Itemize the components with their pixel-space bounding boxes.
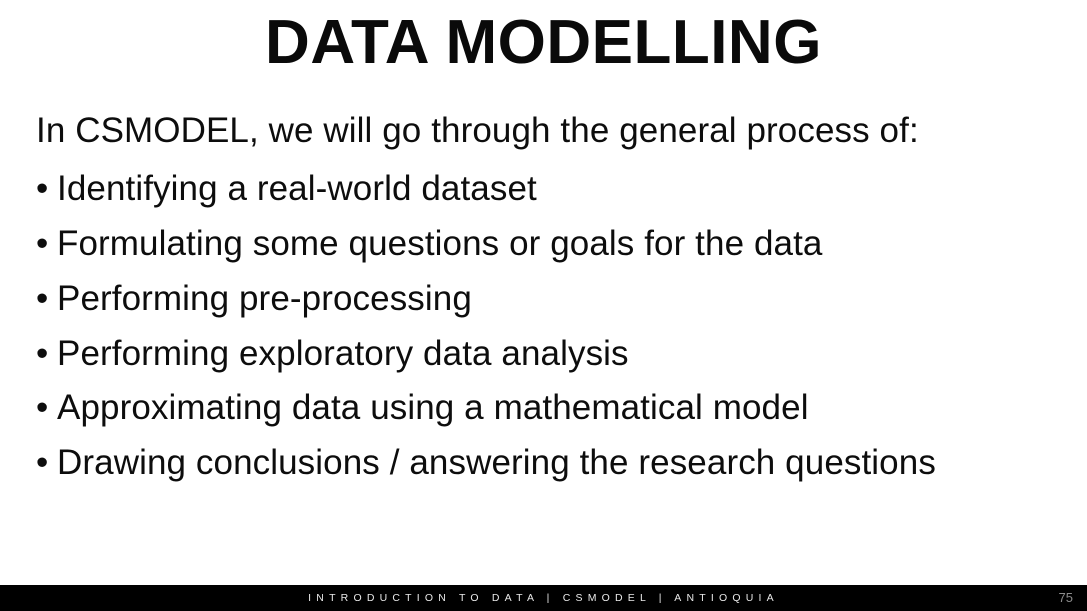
list-item: • Performing pre-processing — [36, 272, 1046, 327]
list-item: • Drawing conclusions / answering the re… — [36, 436, 1046, 491]
bullet-dot-icon: • — [36, 217, 48, 272]
list-item-label: Performing exploratory data analysis — [57, 334, 629, 373]
bullet-dot-icon: • — [36, 272, 48, 327]
footer-breadcrumb: INTRODUCTION TO DATA | CSMODEL | ANTIOQU… — [0, 585, 1087, 611]
list-item-label: Identifying a real-world dataset — [57, 169, 537, 208]
intro-paragraph: In CSMODEL, we will go through the gener… — [36, 104, 1046, 158]
list-item-label: Performing pre-processing — [57, 279, 472, 318]
page-title: DATA MODELLING — [0, 8, 1087, 77]
list-item-label: Approximating data using a mathematical … — [57, 388, 809, 427]
bullet-list: • Identifying a real-world dataset • For… — [36, 162, 1046, 491]
bullet-dot-icon: • — [36, 381, 48, 436]
list-item: • Performing exploratory data analysis — [36, 327, 1046, 382]
slide-body: In CSMODEL, we will go through the gener… — [36, 104, 1046, 491]
bullet-dot-icon: • — [36, 436, 48, 491]
list-item: • Approximating data using a mathematica… — [36, 381, 1046, 436]
list-item: • Identifying a real-world dataset — [36, 162, 1046, 217]
slide-footer: INTRODUCTION TO DATA | CSMODEL | ANTIOQU… — [0, 585, 1087, 611]
bullet-dot-icon: • — [36, 162, 48, 217]
list-item: • Formulating some questions or goals fo… — [36, 217, 1046, 272]
page-number: 75 — [1059, 585, 1073, 611]
list-item-label: Drawing conclusions / answering the rese… — [57, 443, 936, 482]
bullet-dot-icon: • — [36, 327, 48, 382]
list-item-label: Formulating some questions or goals for … — [57, 224, 823, 263]
slide: DATA MODELLING In CSMODEL, we will go th… — [0, 0, 1087, 611]
